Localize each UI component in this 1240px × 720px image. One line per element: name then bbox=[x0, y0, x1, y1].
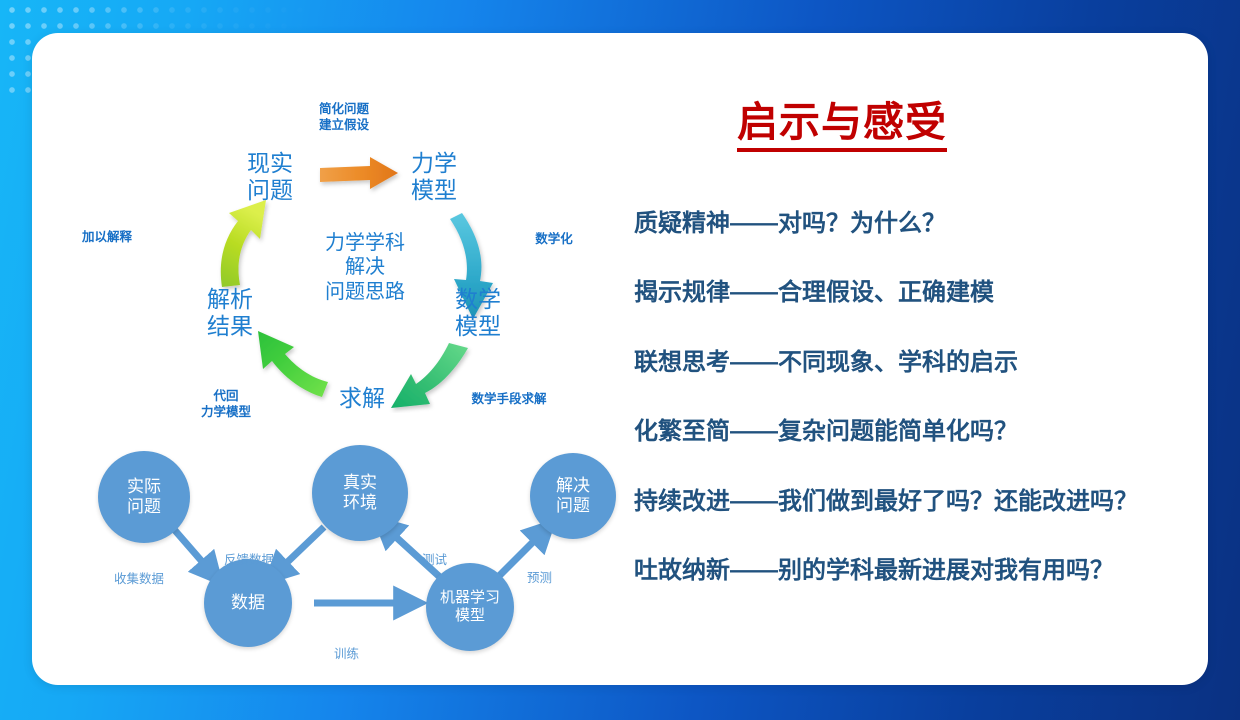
network-edge-label-test: 测试 bbox=[422, 553, 447, 568]
right-panel: 启示与感受 质疑精神——对吗？为什么？ 揭示规律——合理假设、正确建模 联想思考… bbox=[592, 33, 1208, 685]
arrow-orange-simplify-icon bbox=[320, 157, 398, 189]
list-item: 联想思考——不同现象、学科的启示 bbox=[634, 350, 1208, 376]
edge-collect-data bbox=[172, 527, 212, 573]
cycle-node-reality-problem: 现实 问题 bbox=[228, 150, 312, 204]
cycle-edge-label-math-solve: 数学手段求解 bbox=[444, 391, 574, 407]
arrow-yellowgreen-interpret-icon bbox=[221, 200, 266, 287]
network-node-real-problem: 实际 问题 bbox=[98, 451, 190, 543]
mechanics-problem-solving-cycle-diagram: 现实 问题 力学 模型 数学 模型 求解 解析 结果 力学学科 解决 问题思路 … bbox=[32, 33, 592, 413]
edge-feedback-data bbox=[276, 527, 324, 573]
cycle-edge-label-substitute-back: 代回 力学模型 bbox=[166, 388, 286, 421]
network-edge-label-predict: 预测 bbox=[527, 571, 552, 586]
page-title-text: 启示与感受 bbox=[737, 99, 947, 152]
insights-list: 质疑精神——对吗？为什么？ 揭示规律——合理假设、正确建模 联想思考——不同现象… bbox=[634, 211, 1208, 627]
cycle-edge-label-mathematize: 数学化 bbox=[512, 231, 596, 247]
cycle-edge-label-interpret: 加以解释 bbox=[52, 229, 162, 245]
cycle-node-solve: 求解 bbox=[320, 385, 404, 412]
slide-content-card: 现实 问题 力学 模型 数学 模型 求解 解析 结果 力学学科 解决 问题思路 … bbox=[32, 33, 1208, 685]
cycle-center-label: 力学学科 解决 问题思路 bbox=[290, 231, 440, 304]
network-edge-label-feedback-data: 反馈数据 bbox=[224, 553, 274, 568]
list-item: 持续改进——我们做到最好了吗？还能改进吗？ bbox=[634, 489, 1208, 515]
network-node-data: 数据 bbox=[204, 559, 292, 647]
cycle-node-math-model: 数学 模型 bbox=[436, 286, 520, 340]
network-edge-label-train: 训练 bbox=[334, 647, 359, 662]
list-item: 吐故纳新——别的学科最新进展对我有用吗？ bbox=[634, 558, 1208, 584]
machine-learning-workflow-diagram: 实际 问题 真实 环境 解决 问题 数据 机器学习 模型 收集数据 反馈数据 训… bbox=[72, 431, 632, 685]
list-item: 质疑精神——对吗？为什么？ bbox=[634, 211, 1208, 237]
cycle-node-mechanics-model: 力学 模型 bbox=[392, 150, 476, 204]
cycle-node-analytic-result: 解析 结果 bbox=[188, 286, 272, 340]
network-node-real-environment: 真实 环境 bbox=[312, 445, 408, 541]
cycle-edge-label-simplify: 简化问题 建立假设 bbox=[284, 101, 404, 134]
list-item: 揭示规律——合理假设、正确建模 bbox=[634, 280, 1208, 306]
list-item: 化繁至简——复杂问题能简单化吗？ bbox=[634, 419, 1208, 445]
page-title: 启示与感受 bbox=[592, 88, 1092, 148]
network-node-ml-model: 机器学习 模型 bbox=[426, 563, 514, 651]
network-edge-label-collect-data: 收集数据 bbox=[114, 572, 164, 587]
cycle-arrows-svg bbox=[32, 33, 592, 413]
presentation-slide: 现实 问题 力学 模型 数学 模型 求解 解析 结果 力学学科 解决 问题思路 … bbox=[0, 0, 1240, 720]
